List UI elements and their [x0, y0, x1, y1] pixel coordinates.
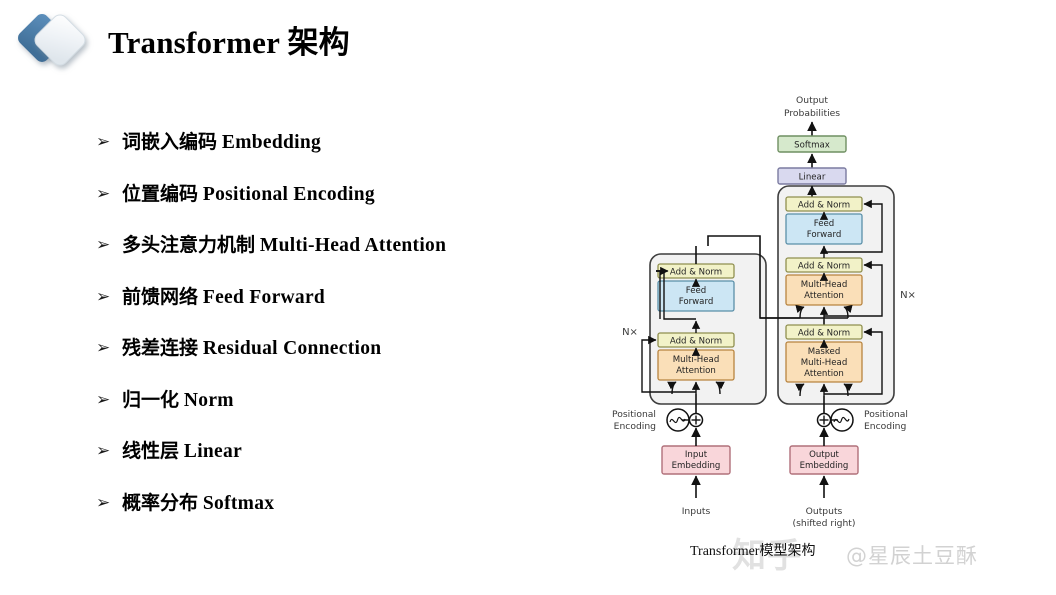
page-title: Transformer 架构	[108, 17, 350, 62]
inputs-label: Inputs	[682, 506, 711, 517]
bullet-arrow-icon: ➢	[96, 336, 122, 360]
encoder-feed-forward-label-line2: Forward	[679, 297, 714, 307]
encoder-add-norm-2-label: Add & Norm	[670, 268, 722, 278]
list-item-label-cn: 归一化	[122, 389, 179, 411]
brand-logo	[12, 8, 98, 80]
bullet-arrow-icon: ➢	[96, 233, 122, 257]
list-item-label-en: Multi-Head Attention	[260, 235, 446, 256]
masked-attention-label-line1: Masked	[808, 347, 841, 357]
feature-bullet-list: ➢ 词嵌入编码 Embedding ➢ 位置编码 Positional Enco…	[96, 130, 596, 542]
bullet-arrow-icon: ➢	[96, 130, 122, 154]
list-item-text: 残差连接 Residual Connection	[122, 336, 381, 361]
output-probabilities-label-line1: Output	[796, 95, 828, 106]
bullet-arrow-icon: ➢	[96, 439, 122, 463]
decoder-add-norm-1-label: Add & Norm	[798, 329, 850, 339]
decoder-add-norm-3-label: Add & Norm	[798, 201, 850, 211]
decoder-cross-attention-label-line2: Attention	[804, 291, 844, 301]
decoder-feed-forward-label-line2: Forward	[807, 230, 842, 240]
list-item-label-cn: 位置编码	[122, 183, 198, 205]
list-item: ➢ 归一化 Norm	[96, 388, 596, 440]
list-item-label-en: Residual Connection	[203, 338, 382, 359]
masked-attention-label-line3: Attention	[804, 369, 844, 379]
list-item: ➢ 位置编码 Positional Encoding	[96, 182, 596, 234]
positional-encoding-label-right-line1: Positional	[864, 409, 908, 420]
list-item-text: 概率分布 Softmax	[122, 491, 274, 516]
outputs-label-line2: (shifted right)	[793, 518, 856, 529]
list-item-label-cn: 残差连接	[122, 337, 198, 359]
list-item-label-cn: 概率分布	[122, 492, 198, 514]
author-watermark: @星辰土豆酥	[846, 540, 978, 570]
list-item-label-cn: 多头注意力机制	[122, 234, 255, 256]
list-item: ➢ 残差连接 Residual Connection	[96, 336, 596, 388]
list-item: ➢ 线性层 Linear	[96, 439, 596, 491]
diagram-caption: Transformer模型架构	[690, 540, 815, 560]
encoder-feed-forward-label-line1: Feed	[686, 286, 707, 296]
output-embedding-label-line2: Embedding	[800, 461, 849, 471]
list-item-label-en: Norm	[184, 390, 234, 411]
list-item-label-en: Embedding	[222, 132, 321, 153]
linear-label: Linear	[799, 173, 826, 183]
input-embedding-label-line2: Embedding	[672, 461, 721, 471]
list-item-text: 前馈网络 Feed Forward	[122, 285, 325, 310]
outputs-label-line1: Outputs	[806, 506, 843, 517]
list-item: ➢ 前馈网络 Feed Forward	[96, 285, 596, 337]
slide-header: Transformer 架构	[0, 0, 1056, 90]
decoder-add-norm-2-label: Add & Norm	[798, 262, 850, 272]
bullet-arrow-icon: ➢	[96, 388, 122, 412]
list-item-label-cn: 前馈网络	[122, 286, 198, 308]
positional-encoding-label-right-line2: Encoding	[864, 421, 906, 432]
list-item-text: 线性层 Linear	[122, 439, 242, 464]
output-probabilities-label-line2: Probabilities	[784, 108, 840, 119]
softmax-label: Softmax	[794, 141, 830, 151]
list-item-label-en: Feed Forward	[203, 287, 325, 308]
list-item: ➢ 多头注意力机制 Multi-Head Attention	[96, 233, 596, 285]
list-item: ➢ 词嵌入编码 Embedding	[96, 130, 596, 182]
decoder-cross-attention-label-line1: Multi-Head	[801, 280, 848, 290]
masked-attention-label-line2: Multi-Head	[801, 358, 848, 368]
list-item-text: 词嵌入编码 Embedding	[122, 130, 321, 155]
decoder-feed-forward-label-line1: Feed	[814, 219, 835, 229]
input-embedding-label-line1: Input	[685, 450, 708, 460]
bullet-arrow-icon: ➢	[96, 182, 122, 206]
list-item-label-en: Softmax	[203, 493, 274, 514]
list-item-label-cn: 词嵌入编码	[122, 131, 217, 153]
brand-logo-svg	[12, 8, 98, 80]
positional-encoding-label-left-line2: Encoding	[614, 421, 656, 432]
positional-encoding-label-left-line1: Positional	[612, 409, 656, 420]
bullet-arrow-icon: ➢	[96, 285, 122, 309]
list-item-label-en: Linear	[184, 441, 242, 462]
list-item-label-cn: 线性层	[122, 440, 179, 462]
encoder-self-attention-label-line2: Attention	[676, 366, 716, 376]
decoder-repeat-label: N×	[900, 290, 916, 301]
output-embedding-label-line1: Output	[809, 450, 839, 460]
encoder-repeat-label: N×	[622, 327, 638, 338]
list-item-text: 归一化 Norm	[122, 388, 234, 413]
list-item-label-en: Positional Encoding	[203, 184, 375, 205]
transformer-architecture-diagram: Output Probabilities Softmax Linear Add …	[600, 86, 940, 536]
list-item-text: 位置编码 Positional Encoding	[122, 182, 375, 207]
list-item: ➢ 概率分布 Softmax	[96, 491, 596, 543]
encoder-add-norm-1-label: Add & Norm	[670, 337, 722, 347]
bullet-arrow-icon: ➢	[96, 491, 122, 515]
transformer-diagram-svg: Output Probabilities Softmax Linear Add …	[600, 86, 940, 536]
list-item-text: 多头注意力机制 Multi-Head Attention	[122, 233, 446, 258]
encoder-self-attention-label-line1: Multi-Head	[673, 355, 720, 365]
